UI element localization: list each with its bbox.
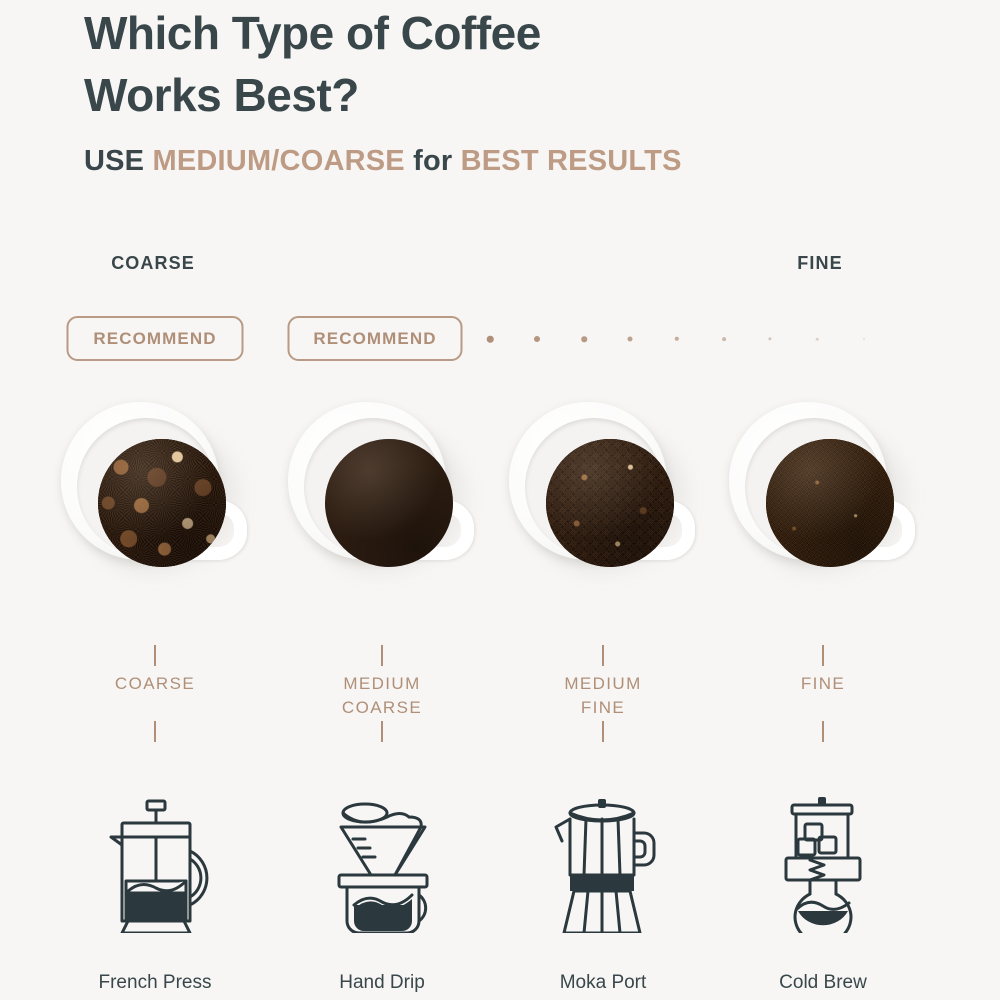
coffee-cup	[503, 396, 703, 596]
cup-body	[61, 402, 219, 560]
cup-body	[509, 402, 667, 560]
french-press-icon	[80, 793, 230, 933]
cup-rim	[745, 418, 883, 556]
subtitle-prefix: USE	[84, 145, 153, 177]
grind-tick-bottom	[381, 721, 383, 742]
page-title: Which Type of Coffee Works Best?	[84, 2, 784, 126]
subtitle-highlight-2: BEST RESULTS	[461, 145, 682, 177]
coffee-grind	[325, 439, 453, 567]
page-title-line-2: Works Best?	[84, 64, 784, 126]
grind-type-label: MEDIUM COARSE	[272, 672, 492, 720]
device-label: Cold Brew	[708, 972, 938, 994]
recommend-badge-coarse[interactable]: RECOMMEND	[67, 316, 244, 361]
grind-tick-top	[602, 645, 604, 666]
hand-drip-icon	[307, 793, 457, 933]
cup-body	[288, 402, 446, 560]
grind-scale-dot	[816, 338, 819, 341]
grind-scale-dot	[534, 336, 540, 342]
grind-tick-bottom	[602, 721, 604, 742]
grind-scale-dot	[581, 336, 587, 342]
subtitle-highlight-1: MEDIUM/COARSE	[153, 145, 405, 177]
coffee-cup	[55, 396, 255, 596]
coffee-grind	[766, 439, 894, 567]
grind-scale-dot	[487, 336, 494, 343]
grind-tick-bottom	[822, 721, 824, 742]
grind-tick-top	[154, 645, 156, 666]
grind-scale-dot	[768, 337, 771, 340]
grind-type-label: FINE	[713, 672, 933, 696]
coffee-grind	[98, 439, 226, 567]
cold-brew-icon	[748, 793, 898, 933]
moka-pot-icon	[528, 793, 678, 933]
cup-rim	[304, 418, 442, 556]
coffee-grind	[546, 439, 674, 567]
grind-scale-dot	[863, 338, 865, 340]
grind-scale-dot	[722, 337, 726, 341]
cup-rim	[525, 418, 663, 556]
grind-type-label: COARSE	[45, 672, 265, 696]
scale-label-fine: FINE	[797, 253, 842, 274]
cup-rim	[77, 418, 215, 556]
grind-scale-dot	[628, 337, 633, 342]
device-label: French Press	[40, 972, 270, 994]
coffee-cup	[723, 396, 923, 596]
grind-scale-dot	[675, 337, 679, 341]
cup-body	[729, 402, 887, 560]
grind-tick-bottom	[154, 721, 156, 742]
grind-tick-top	[822, 645, 824, 666]
subtitle-middle: for	[405, 145, 461, 177]
device-label: Moka Port	[488, 972, 718, 994]
page-title-line-1: Which Type of Coffee	[84, 2, 784, 64]
grind-tick-top	[381, 645, 383, 666]
recommend-badge-medium-coarse[interactable]: RECOMMEND	[288, 316, 463, 361]
coffee-cup	[282, 396, 482, 596]
page-subtitle: USE MEDIUM/COARSE for BEST RESULTS	[84, 141, 682, 181]
scale-label-coarse: COARSE	[111, 253, 195, 274]
device-label: Hand Drip	[267, 972, 497, 994]
grind-type-label: MEDIUM FINE	[493, 672, 713, 720]
infographic-page: Which Type of Coffee Works Best? USE MED…	[0, 0, 1000, 1000]
